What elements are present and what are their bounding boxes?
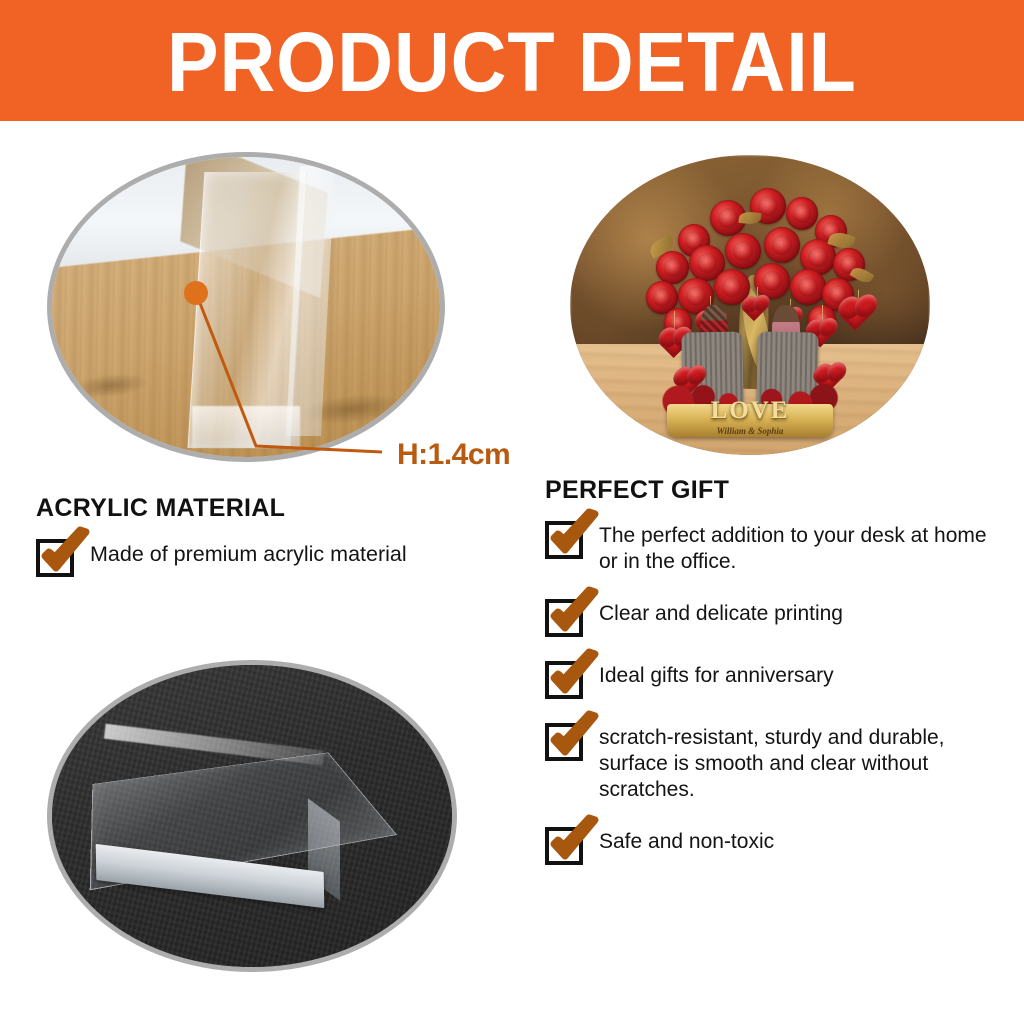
section-acrylic-material: ACRYLIC MATERIAL Made of premium acrylic… — [36, 494, 536, 595]
feature-item: Made of premium acrylic material — [36, 537, 536, 577]
section-heading-acrylic-material: ACRYLIC MATERIAL — [36, 494, 536, 523]
photo-acrylic-edge-on-wood — [47, 152, 445, 462]
feature-label: Ideal gifts for anniversary — [599, 659, 834, 689]
checkmark-icon — [548, 818, 600, 868]
checkmark-icon — [548, 714, 600, 764]
checkbox-checked-icon — [545, 723, 583, 761]
personalized-names: William & Sophia — [570, 426, 930, 436]
rose — [725, 233, 761, 269]
love-text: LOVE — [570, 397, 930, 425]
checkbox-checked-icon — [545, 599, 583, 637]
section-heading-perfect-gift: PERFECT GIFT — [545, 476, 1005, 505]
feature-item: Ideal gifts for anniversary — [545, 659, 1005, 699]
feature-item: scratch-resistant, sturdy and durable, s… — [545, 721, 1005, 803]
rose — [656, 251, 688, 284]
checkmark-icon — [39, 530, 91, 580]
acrylic-base-reflection — [192, 406, 301, 448]
checkbox-checked-icon — [545, 827, 583, 865]
checkbox-checked-icon — [36, 539, 74, 577]
feature-label: Safe and non-toxic — [599, 825, 774, 855]
page-title: PRODUCT DETAIL — [167, 20, 857, 104]
dimension-label: H:1.4cm — [397, 438, 510, 472]
feature-item: The perfect addition to your desk at hom… — [545, 519, 1005, 575]
checkmark-icon — [548, 590, 600, 640]
feature-item: Safe and non-toxic — [545, 825, 1005, 865]
feature-label: The perfect addition to your desk at hom… — [599, 519, 1005, 575]
header-banner: PRODUCT DETAIL — [0, 0, 1024, 121]
feature-label: Clear and delicate printing — [599, 597, 843, 627]
section-perfect-gift: PERFECT GIFT The perfect addition to you… — [545, 476, 1005, 887]
checkbox-checked-icon — [545, 521, 583, 559]
checkmark-icon — [548, 512, 600, 562]
photo-rose-tree-product: LOVE William & Sophia — [570, 155, 930, 455]
wood-knot — [71, 370, 151, 401]
rose — [754, 263, 790, 299]
rose — [790, 269, 826, 305]
checkbox-checked-icon — [545, 661, 583, 699]
feature-item: Clear and delicate printing — [545, 597, 1005, 637]
feature-label: scratch-resistant, sturdy and durable, s… — [599, 721, 1005, 803]
checkmark-icon — [548, 652, 600, 702]
feature-label: Made of premium acrylic material — [90, 537, 407, 568]
photo-acrylic-block-on-slate — [47, 660, 457, 972]
